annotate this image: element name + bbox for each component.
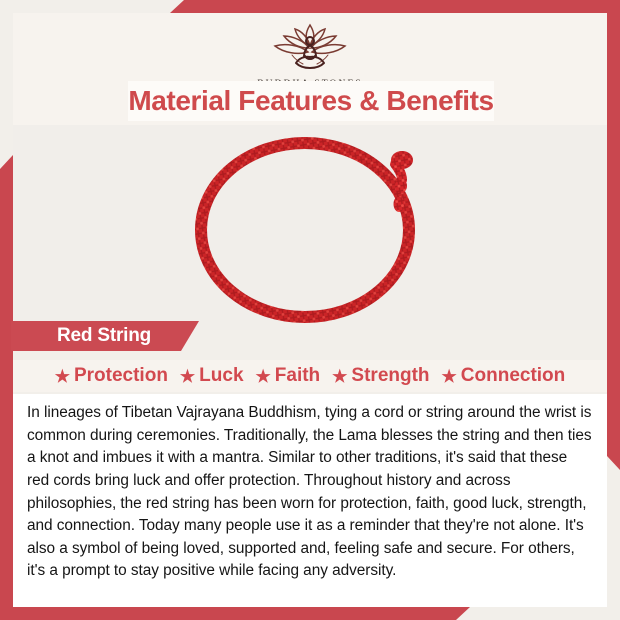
frame-bar-bottom: [0, 607, 470, 620]
page-title: Material Features & Benefits: [128, 85, 493, 117]
description-panel: In lineages of Tibetan Vajrayana Buddhis…: [13, 394, 607, 607]
product-image: [13, 125, 607, 330]
frame-bar-right: [607, 0, 620, 470]
frame-bar-left: [0, 155, 13, 620]
benefit-item-luck: ★ Luck: [175, 365, 249, 387]
benefits-row: ★ Protection ★ Luck ★ Faith ★ Strength ★…: [13, 360, 607, 392]
red-string-bracelet-photo: [160, 130, 460, 325]
benefit-label: Connection: [461, 365, 566, 387]
star-icon: ★: [256, 368, 271, 385]
benefit-item-protection: ★ Protection: [50, 365, 173, 387]
benefit-label: Protection: [74, 365, 168, 387]
product-name-label: Red String: [11, 325, 151, 347]
star-icon: ★: [442, 368, 457, 385]
star-icon: ★: [55, 368, 70, 385]
benefit-label: Luck: [199, 365, 243, 387]
benefit-item-faith: ★ Faith: [251, 365, 326, 387]
lotus-meditation-icon: [262, 19, 358, 78]
product-name-ribbon: Red String: [11, 321, 199, 351]
star-icon: ★: [180, 368, 195, 385]
title-band: Material Features & Benefits: [128, 81, 494, 121]
benefit-label: Strength: [351, 365, 429, 387]
benefit-item-connection: ★ Connection: [437, 365, 571, 387]
benefit-item-strength: ★ Strength: [327, 365, 434, 387]
benefit-label: Faith: [275, 365, 320, 387]
star-icon: ★: [332, 368, 347, 385]
frame-bar-top: [170, 0, 620, 13]
description-text: In lineages of Tibetan Vajrayana Buddhis…: [27, 402, 593, 583]
